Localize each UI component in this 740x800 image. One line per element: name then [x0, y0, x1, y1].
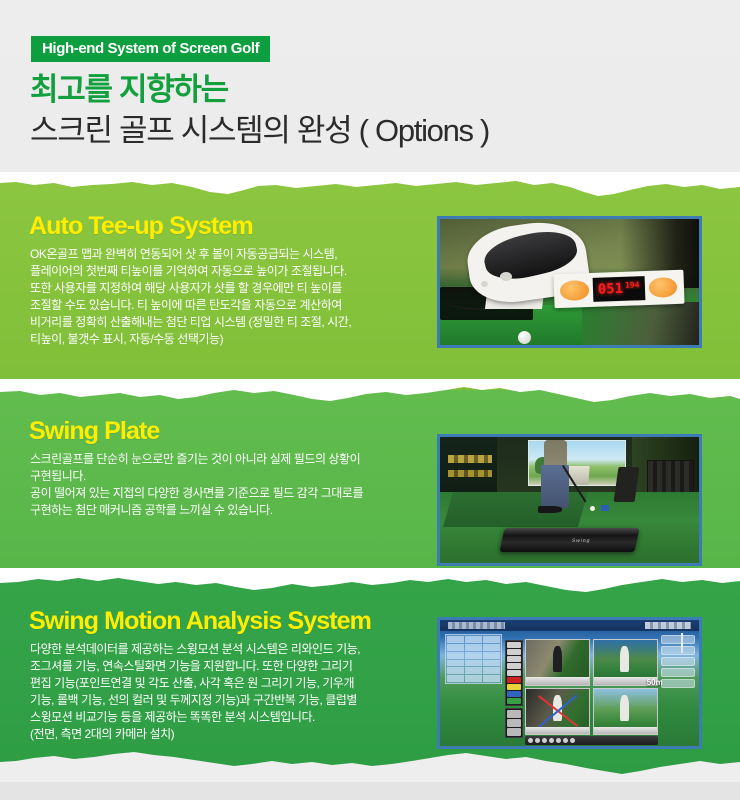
- orange-button-left: [560, 280, 589, 301]
- photo-content: 50m: [440, 620, 699, 746]
- scorecard-cell: [447, 667, 464, 674]
- swing-plate-device: Swing: [500, 528, 640, 552]
- scorecard-cell: [465, 660, 482, 667]
- scorecard-cell: [465, 667, 482, 674]
- scorecard-cell: [465, 652, 482, 659]
- sensor-dot-large: [500, 272, 512, 281]
- color-swatch-yellow[interactable]: [507, 684, 521, 690]
- led-sub-value: 194: [625, 281, 640, 290]
- mat-edge-shadow: [582, 302, 699, 345]
- transport-button[interactable]: [570, 738, 575, 743]
- section-body-text: 다양한 분석데이터를 제공하는 스윙모션 분석 시스템은 리와인드 기능, 조그…: [30, 641, 425, 743]
- golfer-silhouette: [620, 646, 629, 672]
- playback-button[interactable]: [507, 710, 521, 718]
- scorecard-cell: [483, 667, 500, 674]
- section-body-text: 스크린골프를 단순히 눈으로만 즐기는 것이 아니라 실제 필드의 상황이 구현…: [30, 451, 425, 519]
- scorecard-cell: [483, 675, 500, 682]
- tee-marker-blue: [601, 505, 609, 511]
- section-heading-swing-motion-analysis: Swing Motion Analysis System: [29, 608, 371, 636]
- menu-button[interactable]: [661, 679, 695, 688]
- transport-control-bar[interactable]: [525, 736, 657, 745]
- scorecard-cell: [447, 675, 464, 682]
- video-scrubber[interactable]: [526, 727, 589, 734]
- golf-club: [562, 466, 614, 509]
- scorecard-cell: [447, 660, 464, 667]
- section-body-auto-tee-up: OK온골프 맵과 완벽히 연동되어 샷 후 볼이 자동공급되는 시스템, 플레이…: [30, 246, 425, 348]
- distance-readout: 50m: [647, 678, 663, 687]
- playback-button[interactable]: [507, 728, 521, 736]
- transport-button[interactable]: [535, 738, 540, 743]
- photo-content: Swing: [440, 437, 699, 563]
- tool-button[interactable]: [507, 649, 521, 655]
- software-top-bar: [440, 620, 699, 631]
- transport-button[interactable]: [528, 738, 533, 743]
- scorecard-cell: [465, 675, 482, 682]
- video-pane-front-indoor[interactable]: [525, 639, 590, 686]
- swing-plate-label: Swing: [571, 537, 591, 543]
- video-pane-side-course[interactable]: [593, 688, 658, 735]
- video-scrubber[interactable]: [594, 727, 657, 734]
- tool-button[interactable]: [507, 663, 521, 669]
- photo-content: 051 194: [440, 219, 699, 345]
- menu-button[interactable]: [661, 657, 695, 666]
- transport-button[interactable]: [549, 738, 554, 743]
- video-pane-front-analysis[interactable]: [525, 688, 590, 735]
- color-swatch-blue[interactable]: [507, 691, 521, 697]
- swing-motion-analysis-screen: 50m: [437, 617, 702, 749]
- scorecard-cell: [465, 636, 482, 643]
- scorecard-cell: [465, 644, 482, 651]
- section-heading-swing-plate: Swing Plate: [29, 418, 159, 446]
- page-root: High-end System of Screen Golf 최고를 지향하는 …: [0, 0, 740, 800]
- control-panel: 051 194: [553, 270, 684, 309]
- scorecard-cell: [447, 644, 464, 651]
- top-bar-right-labels: [645, 622, 692, 629]
- tool-button[interactable]: [507, 656, 521, 662]
- transport-button[interactable]: [556, 738, 561, 743]
- header-badge: High-end System of Screen Golf: [31, 36, 270, 62]
- golf-ball: [518, 331, 531, 344]
- golfer-silhouette: [620, 695, 629, 721]
- menu-button[interactable]: [661, 668, 695, 677]
- player-torso: [544, 440, 567, 468]
- page-title-line-1: 최고를 지향하는: [30, 72, 228, 108]
- auto-tee-up-device-photo: 051 194: [437, 216, 702, 348]
- tool-button[interactable]: [507, 642, 521, 648]
- section-heading-auto-tee-up: Auto Tee-up System: [29, 213, 253, 241]
- menu-button[interactable]: [661, 635, 695, 644]
- wall-shelf-upper: [448, 455, 492, 464]
- transport-button[interactable]: [563, 738, 568, 743]
- page-title-line-2: 스크린 골프 시스템의 완성 ( Options ): [30, 113, 489, 149]
- color-swatch-green[interactable]: [507, 698, 521, 704]
- playback-tool-palette[interactable]: [505, 708, 523, 738]
- led-display: 051 194: [592, 276, 645, 301]
- swing-plate-photo: Swing: [437, 434, 702, 566]
- section-body-swing-motion-analysis: 다양한 분석데이터를 제공하는 스윙모션 분석 시스템은 리와인드 기능, 조그…: [30, 641, 425, 743]
- tool-button[interactable]: [507, 670, 521, 676]
- section-body-swing-plate: 스크린골프를 단순히 눈으로만 즐기는 것이 아니라 실제 필드의 상황이 구현…: [30, 451, 425, 519]
- scorecard-cell: [483, 652, 500, 659]
- orange-button-right: [648, 277, 677, 298]
- right-side-menu[interactable]: [661, 635, 695, 738]
- scorecard-cell: [447, 652, 464, 659]
- scorecard-cell: [483, 636, 500, 643]
- drawing-tool-palette[interactable]: [505, 640, 523, 706]
- golfer-silhouette: [553, 646, 562, 672]
- scorecard-cell: [483, 644, 500, 651]
- page-header: High-end System of Screen Golf 최고를 지향하는 …: [0, 0, 740, 185]
- top-bar-left-labels: [448, 622, 505, 629]
- playback-button[interactable]: [507, 719, 521, 727]
- scorecard-cell: [447, 636, 464, 643]
- player-shoes: [538, 506, 561, 512]
- transport-button[interactable]: [542, 738, 547, 743]
- scorecard-cell: [483, 660, 500, 667]
- menu-button[interactable]: [661, 646, 695, 655]
- led-main-value: 051: [598, 281, 624, 298]
- video-scrubber[interactable]: [526, 677, 589, 684]
- wall-shelf-lower: [448, 470, 492, 478]
- color-swatch-red[interactable]: [507, 677, 521, 683]
- section-body-text: OK온골프 맵과 완벽히 연동되어 샷 후 볼이 자동공급되는 시스템, 플레이…: [30, 246, 425, 348]
- scorecard-grid: [445, 634, 502, 684]
